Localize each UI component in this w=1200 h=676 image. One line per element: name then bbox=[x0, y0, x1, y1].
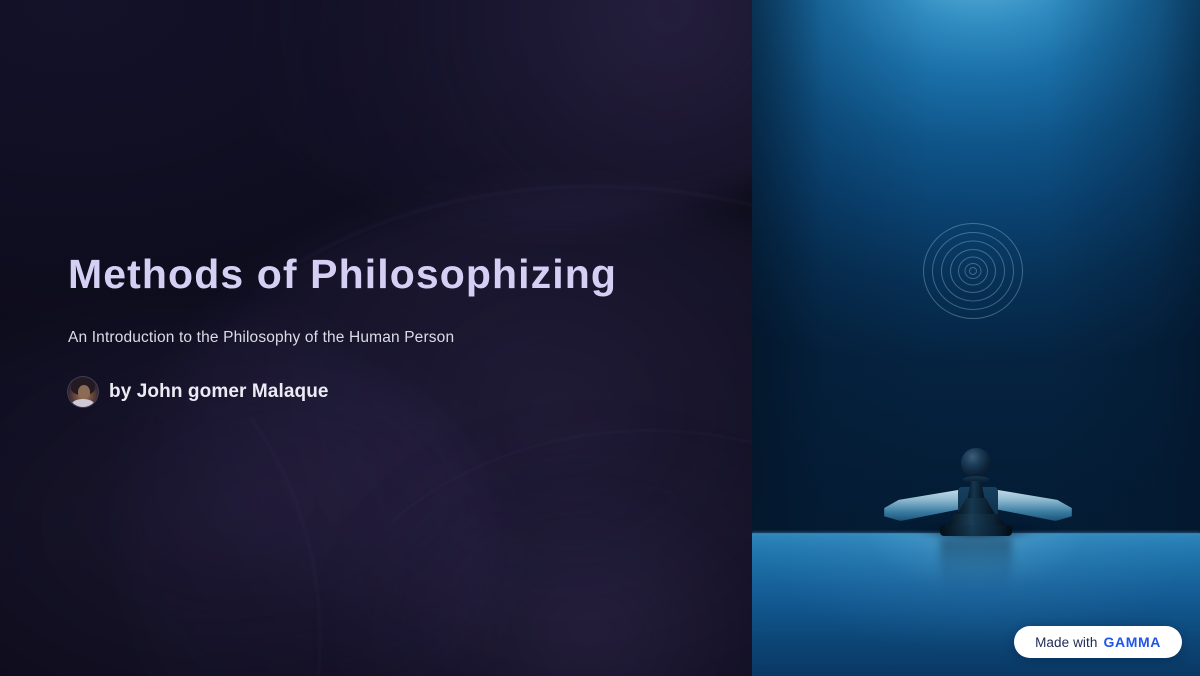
background-swoosh-bottom-icon bbox=[330, 420, 752, 676]
slide-cover-image bbox=[752, 0, 1200, 676]
pawn-reflection bbox=[940, 538, 1012, 594]
made-with-gamma-badge[interactable]: Made with GAMMA bbox=[1014, 626, 1182, 658]
author-name: by John gomer Malaque bbox=[109, 381, 329, 403]
badge-prefix-label: Made with bbox=[1035, 635, 1097, 650]
author-byline: by John gomer Malaque bbox=[68, 377, 688, 407]
page-title: Methods of Philosophizing bbox=[68, 250, 688, 298]
slide-subtitle: An Introduction to the Philosophy of the… bbox=[68, 327, 688, 349]
presentation-slide: Methods of Philosophizing An Introductio… bbox=[0, 0, 1200, 676]
avatar bbox=[68, 377, 98, 407]
slide-left-panel: Methods of Philosophizing An Introductio… bbox=[0, 0, 752, 676]
background-arc-three-icon bbox=[300, 430, 752, 676]
badge-brand-label: GAMMA bbox=[1104, 634, 1161, 650]
slide-text-block: Methods of Philosophizing An Introductio… bbox=[68, 250, 688, 407]
chess-pawn-icon bbox=[934, 448, 1018, 538]
